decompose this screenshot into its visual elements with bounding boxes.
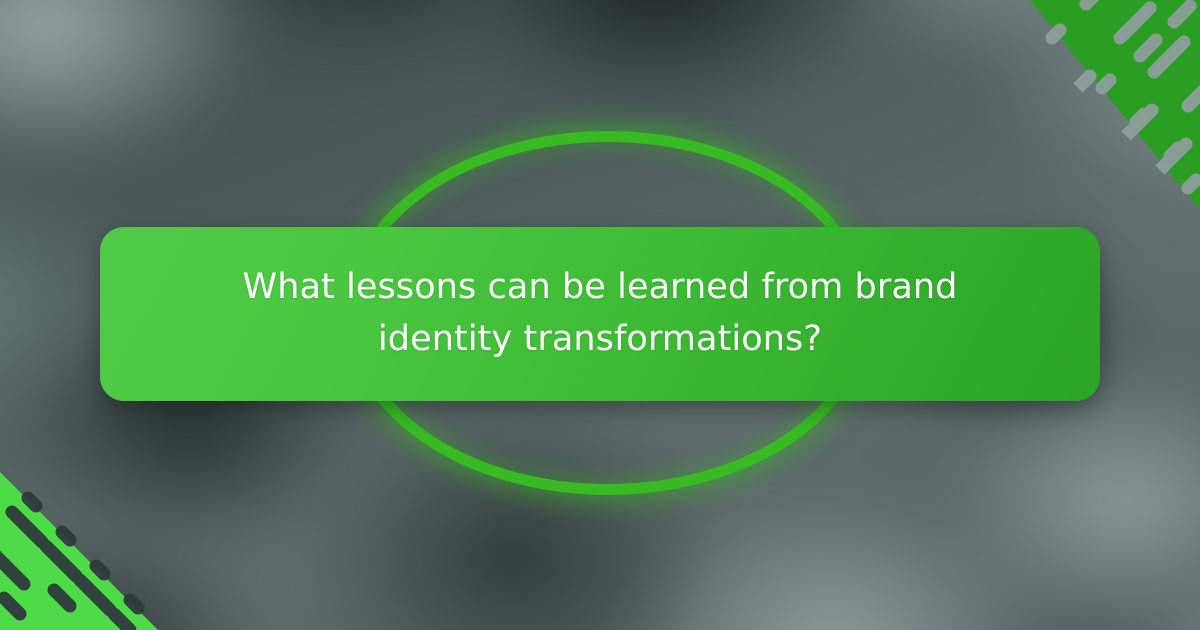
quote-card-canvas: What lessons can be learned from brand i… <box>0 0 1200 630</box>
quote-text: What lessons can be learned from brand i… <box>220 262 980 366</box>
quote-card: What lessons can be learned from brand i… <box>100 227 1100 401</box>
